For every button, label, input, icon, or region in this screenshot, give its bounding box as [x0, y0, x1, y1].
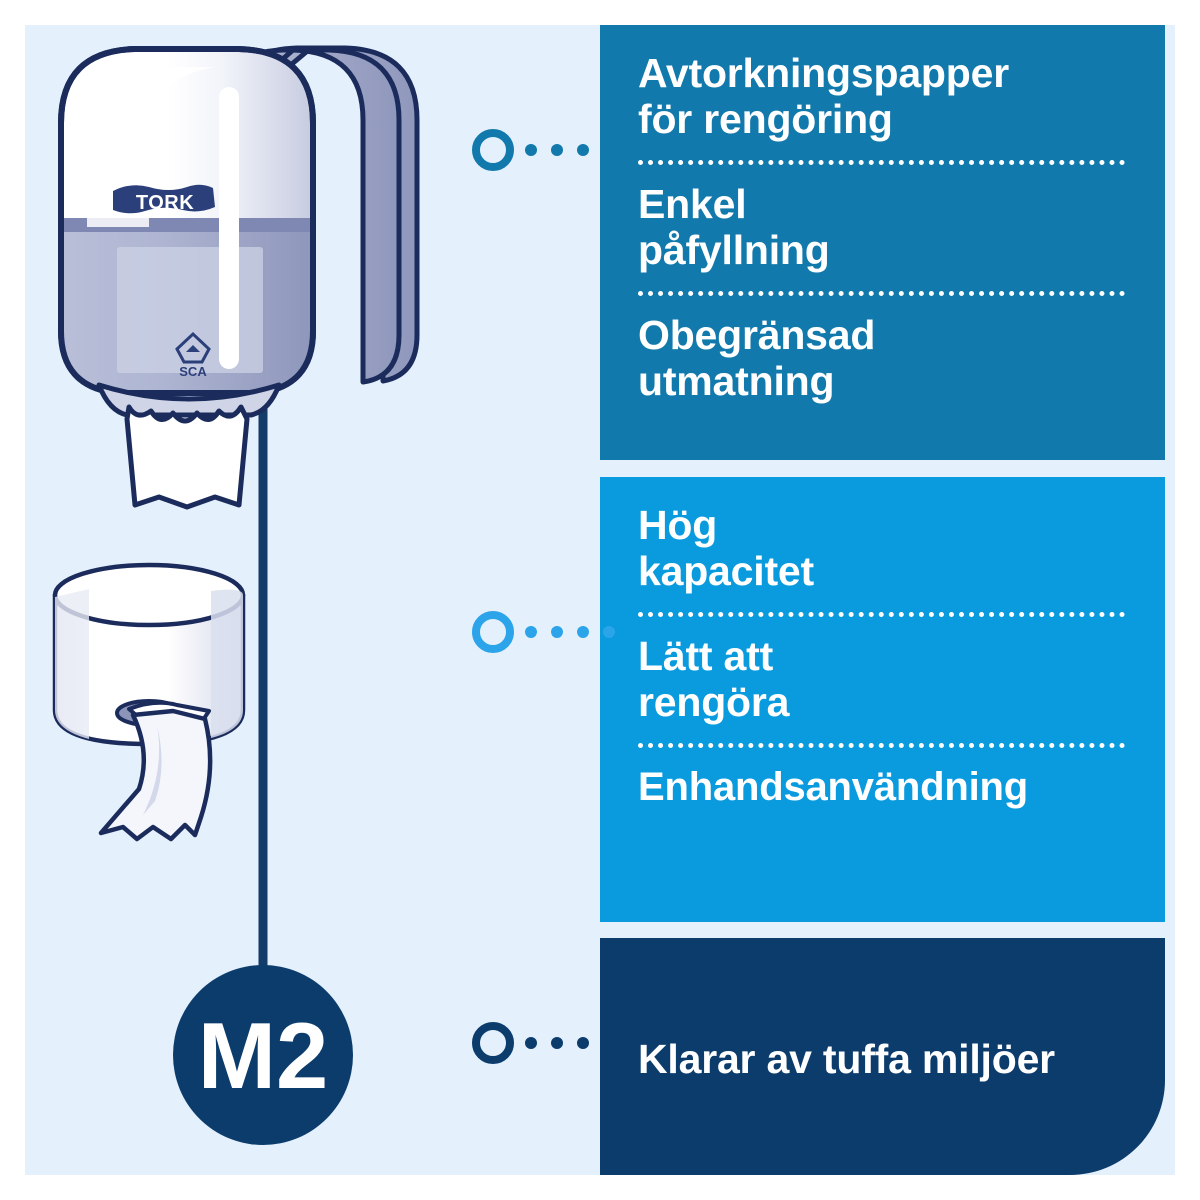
feature-item: Enkel påfyllning — [638, 182, 1125, 274]
connector-dots-icon — [525, 144, 615, 156]
feature-divider — [638, 160, 1125, 165]
connector-panel-2 — [472, 611, 615, 653]
feature-item: Obegränsad utmatning — [638, 313, 1125, 405]
svg-text:TORK: TORK — [136, 192, 194, 214]
feature-panel-cleaning: Avtorkningspapper för rengöring Enkel på… — [600, 25, 1165, 460]
system-badge-m2: M2 — [173, 965, 353, 1145]
feature-divider — [638, 743, 1125, 748]
feature-item: Enhandsanvändning — [638, 765, 1125, 810]
paper-roll-illustration — [55, 565, 243, 839]
system-badge-label: M2 — [198, 1003, 329, 1108]
product-illustration: TORK SCA — [25, 25, 600, 1175]
dispenser-illustration: TORK SCA — [61, 48, 417, 507]
feature-divider — [638, 291, 1125, 296]
feature-item: Avtorkningspapper för rengöring — [638, 51, 1125, 143]
connector-ring-icon — [472, 1022, 514, 1064]
feature-item: Lätt att rengöra — [638, 634, 1125, 726]
connector-dots-icon — [525, 626, 615, 638]
connector-panel-1 — [472, 129, 615, 171]
connector-ring-icon — [472, 129, 514, 171]
feature-panel-durability: Klarar av tuffa miljöer — [600, 938, 1165, 1175]
infographic-root: TORK SCA — [0, 0, 1200, 1200]
svg-text:SCA: SCA — [179, 364, 207, 379]
feature-divider — [638, 612, 1125, 617]
feature-item: Hög kapacitet — [638, 503, 1125, 595]
connector-panel-3 — [472, 1022, 615, 1064]
feature-item: Klarar av tuffa miljöer — [638, 1037, 1125, 1083]
connector-ring-icon — [472, 611, 514, 653]
connector-dots-icon — [525, 1037, 615, 1049]
feature-panel-capacity: Hög kapacitet Lätt att rengöra Enhandsan… — [600, 477, 1165, 922]
